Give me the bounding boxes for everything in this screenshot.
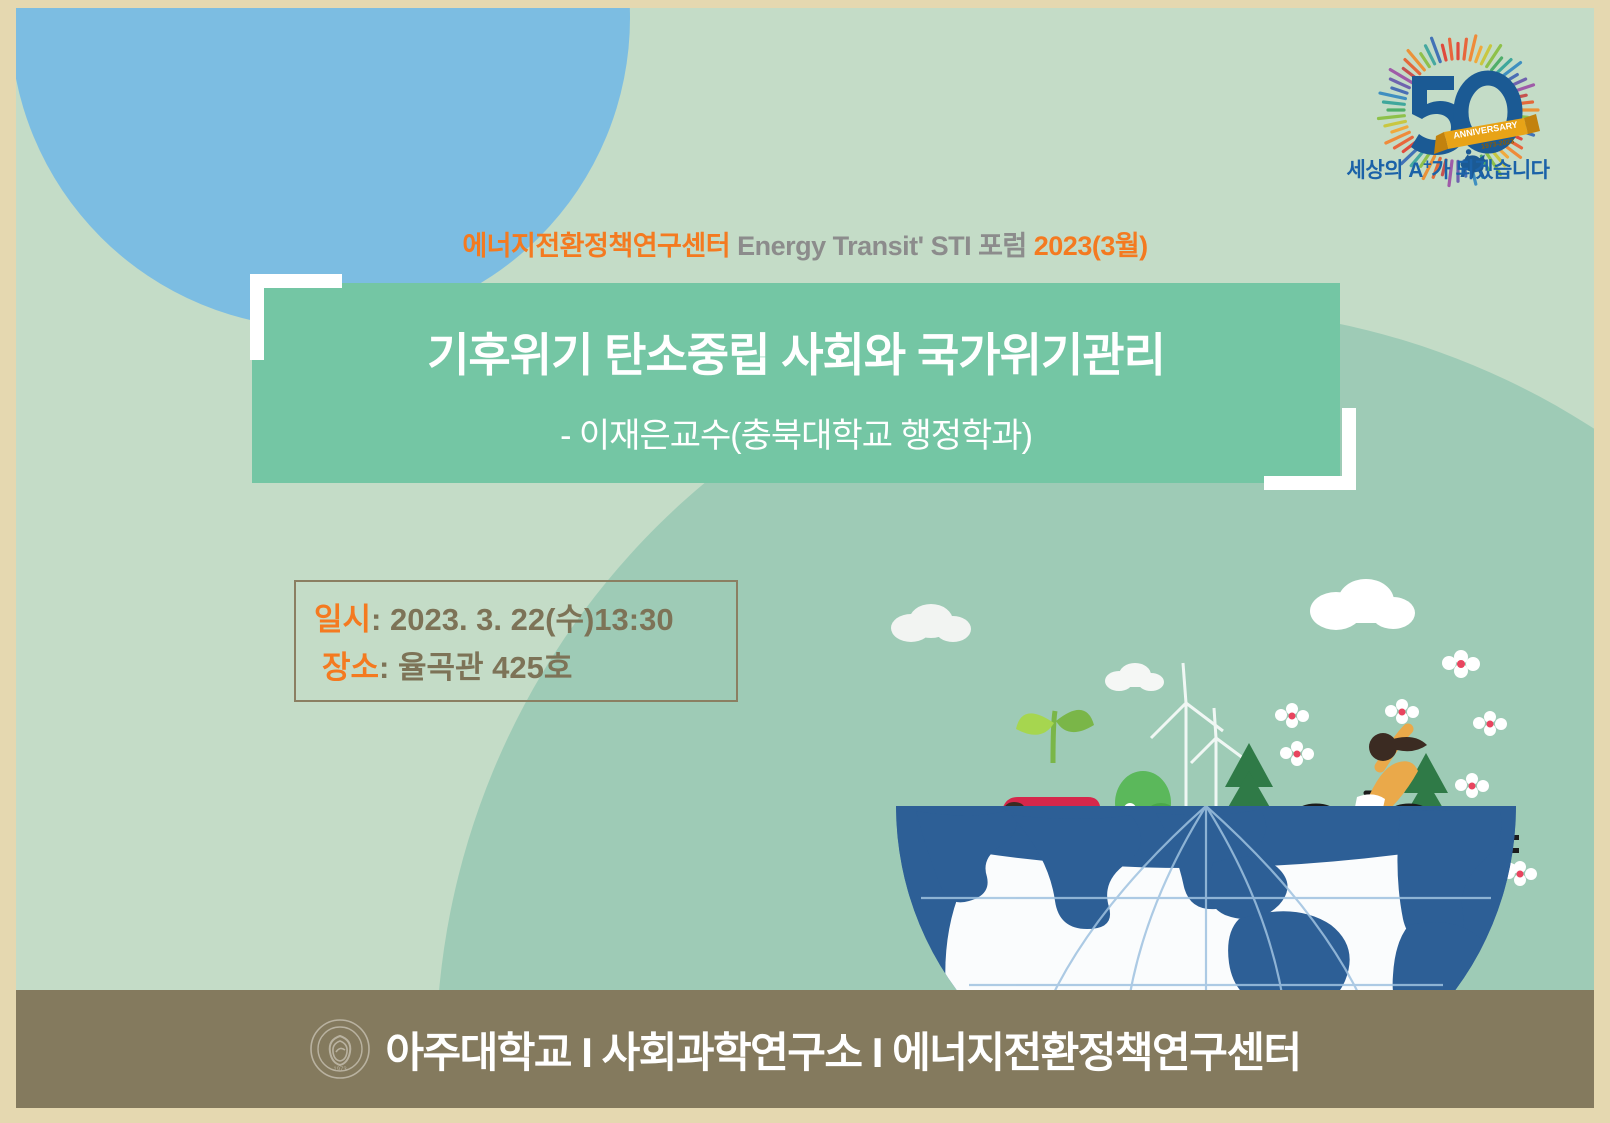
flower-icon xyxy=(1275,703,1309,728)
event-place-label: 장소 xyxy=(322,650,379,685)
forum-kicker-line: 에너지전환정책연구센터 Energy Transit' STI 포럼 2023(… xyxy=(16,224,1594,263)
sprout-icon xyxy=(1016,710,1094,763)
flower-icon xyxy=(1473,711,1507,736)
flower-icon xyxy=(1385,699,1419,724)
page-title: 기후위기 탄소중립 사회와 국가위기관리 xyxy=(252,319,1340,385)
slogan-before: 세상의 A xyxy=(1347,159,1423,182)
footer-organizations: 아주대학교 I 사회과학연구소 I 에너지전환정책연구센터 xyxy=(385,1019,1300,1080)
slogan-after: 가 되겠습니다 xyxy=(1431,159,1549,182)
flower-icon xyxy=(1442,650,1480,678)
event-place-row: 장소: 율곡관 425호 xyxy=(314,644,736,692)
cloud-icon xyxy=(1105,663,1164,691)
eco-illustration-icon xyxy=(861,553,1551,1018)
speaker-line: - 이재은교수(충북대학교 행정학과) xyxy=(252,408,1340,457)
kicker-series: Energy Transit' STI 포럼 xyxy=(737,231,1027,261)
poster-canvas: ANNIVERSARY 1973-2023 세상의 A+가 되겠습니다 에너지전… xyxy=(16,8,1594,1108)
event-date-label: 일시 xyxy=(314,602,371,637)
footer-bar: 1973 아주대학교 I 사회과학연구소 I 에너지전환정책연구센터 xyxy=(16,990,1594,1108)
bracket-bottom-right xyxy=(1264,408,1356,490)
event-info-box: 일시: 2023. 3. 22(수)13:30 장소: 율곡관 425호 xyxy=(294,580,738,702)
cloud-icon xyxy=(1310,579,1415,630)
title-band: 기후위기 탄소중립 사회와 국가위기관리 - 이재은교수(충북대학교 행정학과) xyxy=(252,283,1340,483)
kicker-edition: 2023(3월) xyxy=(1034,231,1148,261)
event-place-value: : 율곡관 425호 xyxy=(379,650,572,685)
anniversary-slogan: 세상의 A+가 되겠습니다 xyxy=(1340,154,1556,184)
event-date-row: 일시: 2023. 3. 22(수)13:30 xyxy=(314,596,736,644)
poster-root: ANNIVERSARY 1973-2023 세상의 A+가 되겠습니다 에너지전… xyxy=(0,0,1610,1123)
event-date-value: : 2023. 3. 22(수)13:30 xyxy=(371,602,674,637)
ajou-university-seal-icon: 1973 xyxy=(309,1018,371,1080)
globe-icon xyxy=(896,803,1516,1018)
cloud-icon xyxy=(891,604,971,642)
seal-year-text: 1973 xyxy=(334,1067,348,1073)
bracket-top-left xyxy=(250,274,342,360)
flower-icon xyxy=(1455,773,1489,798)
slogan-plus: + xyxy=(1423,156,1431,173)
eco-globe-illustration xyxy=(861,553,1551,1018)
flower-icon xyxy=(1280,741,1314,766)
kicker-org: 에너지전환정책연구센터 xyxy=(462,231,730,261)
